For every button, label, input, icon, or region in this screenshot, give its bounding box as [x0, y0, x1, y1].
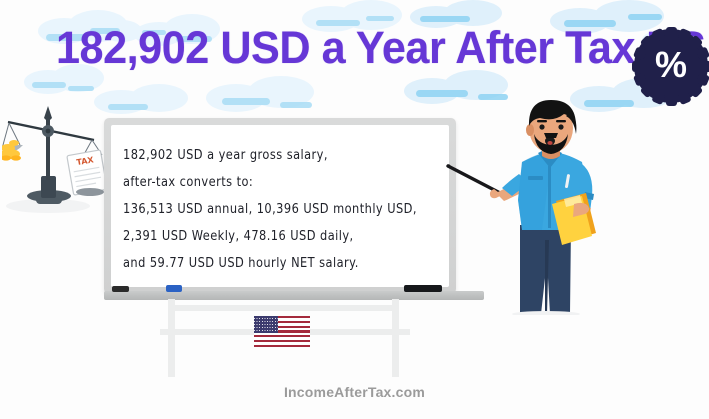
infographic-canvas: 182,902 USD a Year After Tax US % — [0, 0, 709, 419]
stand-foot — [160, 329, 186, 335]
teacher-illustration — [446, 100, 686, 315]
stand-crossbar — [168, 305, 399, 311]
page-title: 182,902 USD a Year After Tax US — [56, 20, 651, 76]
stand-foot — [384, 329, 410, 335]
whiteboard-surface: 182,902 USD a year gross salary, after-t… — [111, 125, 449, 287]
salary-whiteboard: 182,902 USD a year gross salary, after-t… — [104, 118, 456, 294]
cloud-icon — [196, 76, 336, 114]
eraser-icon — [112, 286, 129, 292]
percent-badge: % — [634, 29, 708, 103]
site-watermark: IncomeAfterTax.com — [0, 384, 709, 400]
blue-marker-icon — [166, 285, 182, 292]
percent-symbol: % — [634, 29, 708, 103]
flag-canton — [254, 316, 278, 333]
black-marker-icon — [404, 285, 442, 292]
united-states-flag-icon — [254, 316, 310, 347]
whiteboard-line: and 59.77 USD USD hourly NET salary. — [123, 247, 449, 279]
balance-scales-icon: TAX — [2, 100, 114, 218]
